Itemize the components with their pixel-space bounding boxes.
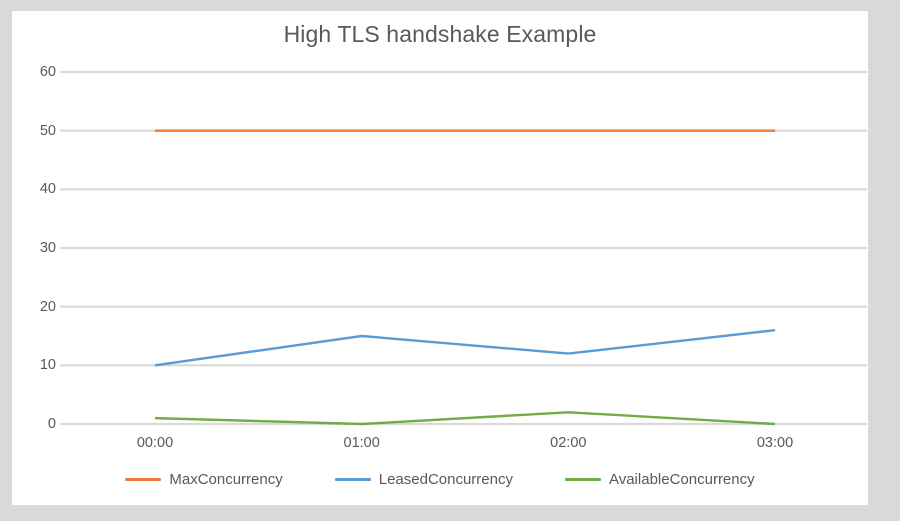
y-axis-tick-label: 30: [12, 240, 56, 256]
y-axis-tick-label: 0: [12, 416, 56, 432]
y-axis-tick-label: 60: [12, 64, 56, 80]
series-line-availableconcurrency: [155, 412, 775, 424]
chart-svg: [12, 11, 868, 505]
legend-item-leasedconcurrency[interactable]: LeasedConcurrency: [335, 471, 513, 488]
chart-legend: MaxConcurrencyLeasedConcurrencyAvailable…: [12, 471, 868, 488]
x-axis-tick-label: 02:00: [523, 435, 613, 451]
series-line-leasedconcurrency: [155, 330, 775, 365]
x-axis-tick-label: 00:00: [110, 435, 200, 451]
legend-item-maxconcurrency[interactable]: MaxConcurrency: [125, 471, 282, 488]
legend-swatch-icon: [565, 478, 601, 481]
legend-item-availableconcurrency[interactable]: AvailableConcurrency: [565, 471, 755, 488]
y-axis-tick-label: 40: [12, 181, 56, 197]
legend-label: AvailableConcurrency: [609, 471, 755, 488]
y-axis-tick-label: 10: [12, 357, 56, 373]
series-lines: [155, 131, 775, 424]
y-axis-tick-label: 50: [12, 123, 56, 139]
plot-area: 0102030405060 00:0001:0002:0003:00: [12, 11, 868, 505]
x-axis-tick-label: 03:00: [730, 435, 820, 451]
x-axis-tick-label: 01:00: [317, 435, 407, 451]
legend-label: MaxConcurrency: [169, 471, 282, 488]
legend-swatch-icon: [335, 478, 371, 481]
gridlines: [60, 72, 867, 424]
chart-container: High TLS handshake Example 0102030405060…: [12, 11, 868, 505]
legend-swatch-icon: [125, 478, 161, 481]
legend-label: LeasedConcurrency: [379, 471, 513, 488]
y-axis-tick-label: 20: [12, 299, 56, 315]
